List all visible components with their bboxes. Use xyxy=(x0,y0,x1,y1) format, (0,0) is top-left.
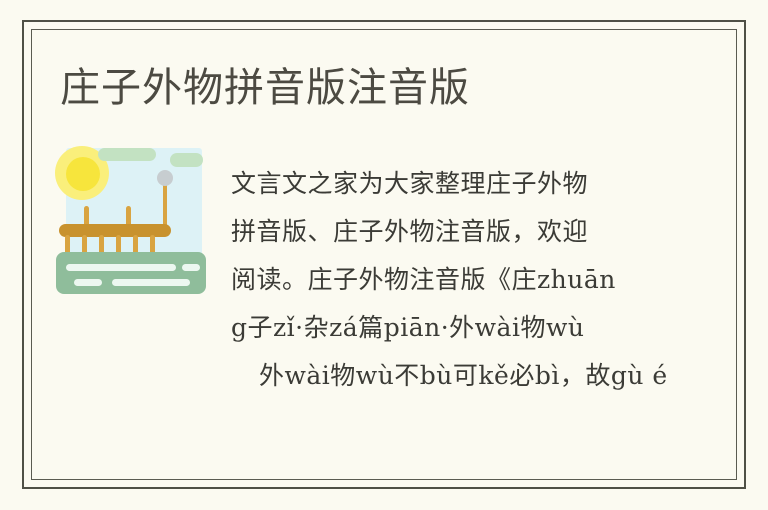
article-line: 拼音版、庄子外物注音版，欢迎 xyxy=(231,208,768,256)
lamp-pole xyxy=(163,180,167,228)
cloud-left xyxy=(98,148,156,161)
article-line: g子zǐ·杂zá篇piān·外wài物wù xyxy=(231,304,768,352)
page-title: 庄子外物拼音版注音版 xyxy=(60,61,470,115)
pier-deck-beam xyxy=(59,224,171,237)
sun-core xyxy=(66,157,100,191)
lamp-head xyxy=(157,170,173,186)
water-ripple-4 xyxy=(112,279,190,286)
water-ripple-3 xyxy=(74,279,102,286)
article-line: 外wài物wù不bù可kě必bì，故gù é xyxy=(231,352,768,400)
cloud-right xyxy=(170,153,203,167)
article-line: 阅读。庄子外物注音版《庄zhuān xyxy=(231,256,768,304)
water-ripple-2 xyxy=(182,264,200,271)
water-body xyxy=(56,252,206,294)
article-line: 文言文之家为大家整理庄子外物 xyxy=(231,160,768,208)
water-ripple-1 xyxy=(66,264,176,271)
article-thumbnail-illustration xyxy=(52,140,210,296)
article-body: 文言文之家为大家整理庄子外物 拼音版、庄子外物注音版，欢迎 阅读。庄子外物注音版… xyxy=(231,160,768,400)
